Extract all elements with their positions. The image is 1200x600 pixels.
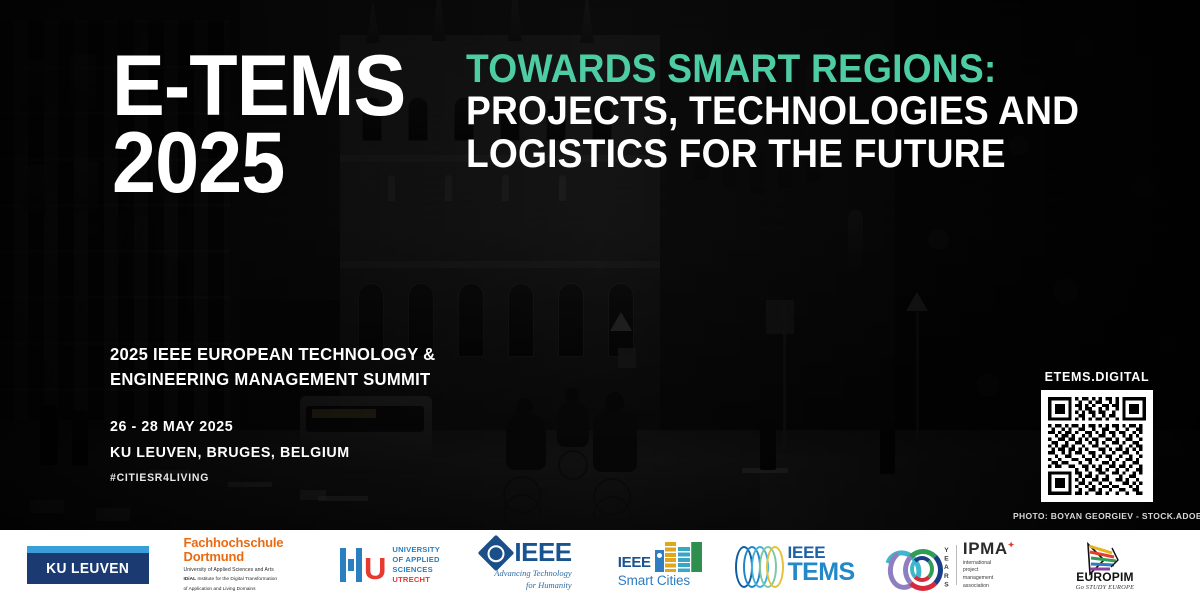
ieee-tems-text: IEEE TEMS (787, 545, 854, 585)
photo-credit: PHOTO: BOYAN GEORGIEV - STOCK.ADOBE.COM (1013, 511, 1200, 521)
smart-city-buildings-icon (655, 542, 703, 572)
sponsor-ku-leuven[interactable]: KU LEUVEN (0, 530, 175, 600)
hu-mark-bar (348, 559, 354, 571)
headline-line1: TOWARDS SMART REGIONS: (466, 48, 1043, 90)
fh-dortmund-unit-line2: of Application and Living Domains (184, 587, 312, 593)
hu-mark-bar (340, 548, 346, 582)
sixty-years-label: YEARS (943, 547, 950, 583)
ieee-tagline-line2: for Humanity (483, 580, 571, 590)
ipma-sub-line3: management (963, 575, 1015, 583)
building-icon (678, 547, 690, 572)
fh-dortmund-unit-line1: Institute for the Digital Transformation (196, 577, 277, 582)
ieee-logo: IEEE Advancing Technology for Humanity (483, 540, 571, 590)
sponsor-hogeschool-utrecht[interactable]: U UNIVERSITY OF APPLIED SCIENCES UTRECHT (320, 530, 460, 600)
headline-line3: LOGISTICS FOR THE FUTURE (466, 133, 1043, 175)
ipma-sub-line4: association (963, 583, 1015, 591)
building-icon (691, 542, 702, 572)
event-hashtag: #CITIESR4LIVING (110, 472, 209, 484)
sponsor-europim[interactable]: EUROPIM Go STUDY EUROPE (1035, 530, 1175, 600)
tems-swoosh-icon (735, 546, 781, 584)
hu-utrecht-text: UNIVERSITY OF APPLIED SCIENCES UTRECHT (392, 545, 440, 584)
building-icon (655, 550, 664, 572)
ieee-wordmark: IEEE (514, 541, 571, 564)
hu-utrecht-logo: U UNIVERSITY OF APPLIED SCIENCES UTRECHT (340, 545, 440, 584)
logo-divider (956, 545, 957, 585)
fh-dortmund-logo: Fachhochschule Dortmund University of Ap… (184, 536, 312, 593)
fh-dortmund-name-line1: Fachhochschule (184, 536, 312, 550)
ieee-smart-cities-row: IEEE (618, 542, 702, 572)
summit-title: 2025 IEEE EUROPEAN TECHNOLOGY & ENGINEER… (110, 342, 510, 393)
event-venue: KU LEUVEN, BRUGES, BELGIUM (110, 440, 350, 466)
qr-code-icon[interactable] (1041, 390, 1153, 502)
ieee-smart-cities-subtitle: Smart Cities (618, 573, 702, 588)
fh-dortmund-unit: IDiAL Institute for the Digital Transfor… (184, 577, 312, 583)
hu-line1: UNIVERSITY (392, 545, 440, 555)
qr-code-label: ETEMS.DIGITAL (1036, 370, 1158, 384)
qr-code-block[interactable]: ETEMS.DIGITAL (1036, 370, 1158, 502)
ieee-smart-cities-logo: IEEE Smart Cities (618, 542, 702, 588)
ipma-text: IPMA✦ international project management a… (963, 540, 1015, 590)
europim-logo: EUROPIM Go STUDY EUROPE (1076, 540, 1134, 591)
hu-line4: UTRECHT (392, 575, 440, 585)
hu-mark-bar (356, 548, 362, 582)
hu-line3: SCIENCES (392, 565, 440, 575)
headline: TOWARDS SMART REGIONS: PROJECTS, TECHNOL… (466, 48, 1086, 175)
ipma-60-years-logo: YEARS IPMA✦ international project manage… (885, 540, 1015, 590)
event-logo-line1: E-TEMS (112, 52, 405, 121)
event-logo-line2: 2025 (112, 129, 405, 198)
conference-banner: E-TEMS 2025 TOWARDS SMART REGIONS: PROJE… (0, 0, 1200, 600)
fh-dortmund-name-line2: Dortmund (184, 550, 312, 564)
sponsor-logo-bar: KU LEUVEN Fachhochschule Dortmund Univer… (0, 530, 1200, 600)
event-dates: 26 - 28 MAY 2025 (110, 414, 350, 440)
ipma-sub-line2: project (963, 567, 1015, 575)
summit-title-line1: 2025 IEEE EUROPEAN TECHNOLOGY & (110, 342, 490, 367)
ipma-wordmark: IPMA (963, 539, 1008, 558)
building-icon (665, 542, 676, 572)
headline-line2: PROJECTS, TECHNOLOGIES AND (466, 90, 1043, 132)
event-logo: E-TEMS 2025 (112, 52, 405, 198)
hu-line2: OF APPLIED (392, 555, 440, 565)
sponsor-ieee-tems[interactable]: IEEE TEMS (725, 530, 865, 600)
sponsor-ipma[interactable]: YEARS IPMA✦ international project manage… (865, 530, 1035, 600)
sponsor-ieee[interactable]: IEEE Advancing Technology for Humanity (460, 530, 595, 600)
fh-dortmund-subtitle: University of Applied Sciences and Arts (184, 567, 312, 573)
ieee-kite-icon (478, 534, 515, 571)
europim-wordmark: EUROPIM (1076, 570, 1133, 584)
ipma-mark-icon: ✦ (1008, 540, 1015, 549)
sponsor-ieee-smart-cities[interactable]: IEEE Smart Cities (595, 530, 725, 600)
hu-mark-icon: U (340, 548, 385, 582)
ku-leuven-logo: KU LEUVEN (27, 546, 149, 584)
europim-tagline: Go STUDY EUROPE (1076, 584, 1134, 591)
banner-content: E-TEMS 2025 TOWARDS SMART REGIONS: PROJE… (0, 0, 1200, 600)
hu-mark-letter: U (364, 557, 385, 582)
ieee-tems-logo: IEEE TEMS (735, 545, 854, 585)
ieee-tems-line2: TEMS (787, 561, 854, 585)
fh-dortmund-unit-abbr: IDiAL (184, 577, 197, 582)
summit-title-line2: ENGINEERING MANAGEMENT SUMMIT (110, 367, 490, 392)
ieee-smart-cities-wordmark: IEEE (618, 555, 651, 572)
sixty-years-icon (885, 546, 937, 584)
ipma-sub-line1: international (963, 560, 1015, 568)
ieee-logo-row: IEEE (483, 540, 571, 566)
event-meta: 26 - 28 MAY 2025 KU LEUVEN, BRUGES, BELG… (110, 414, 362, 467)
ku-leuven-wordmark: KU LEUVEN (46, 561, 129, 577)
sponsor-fachhochschule-dortmund[interactable]: Fachhochschule Dortmund University of Ap… (175, 530, 320, 600)
